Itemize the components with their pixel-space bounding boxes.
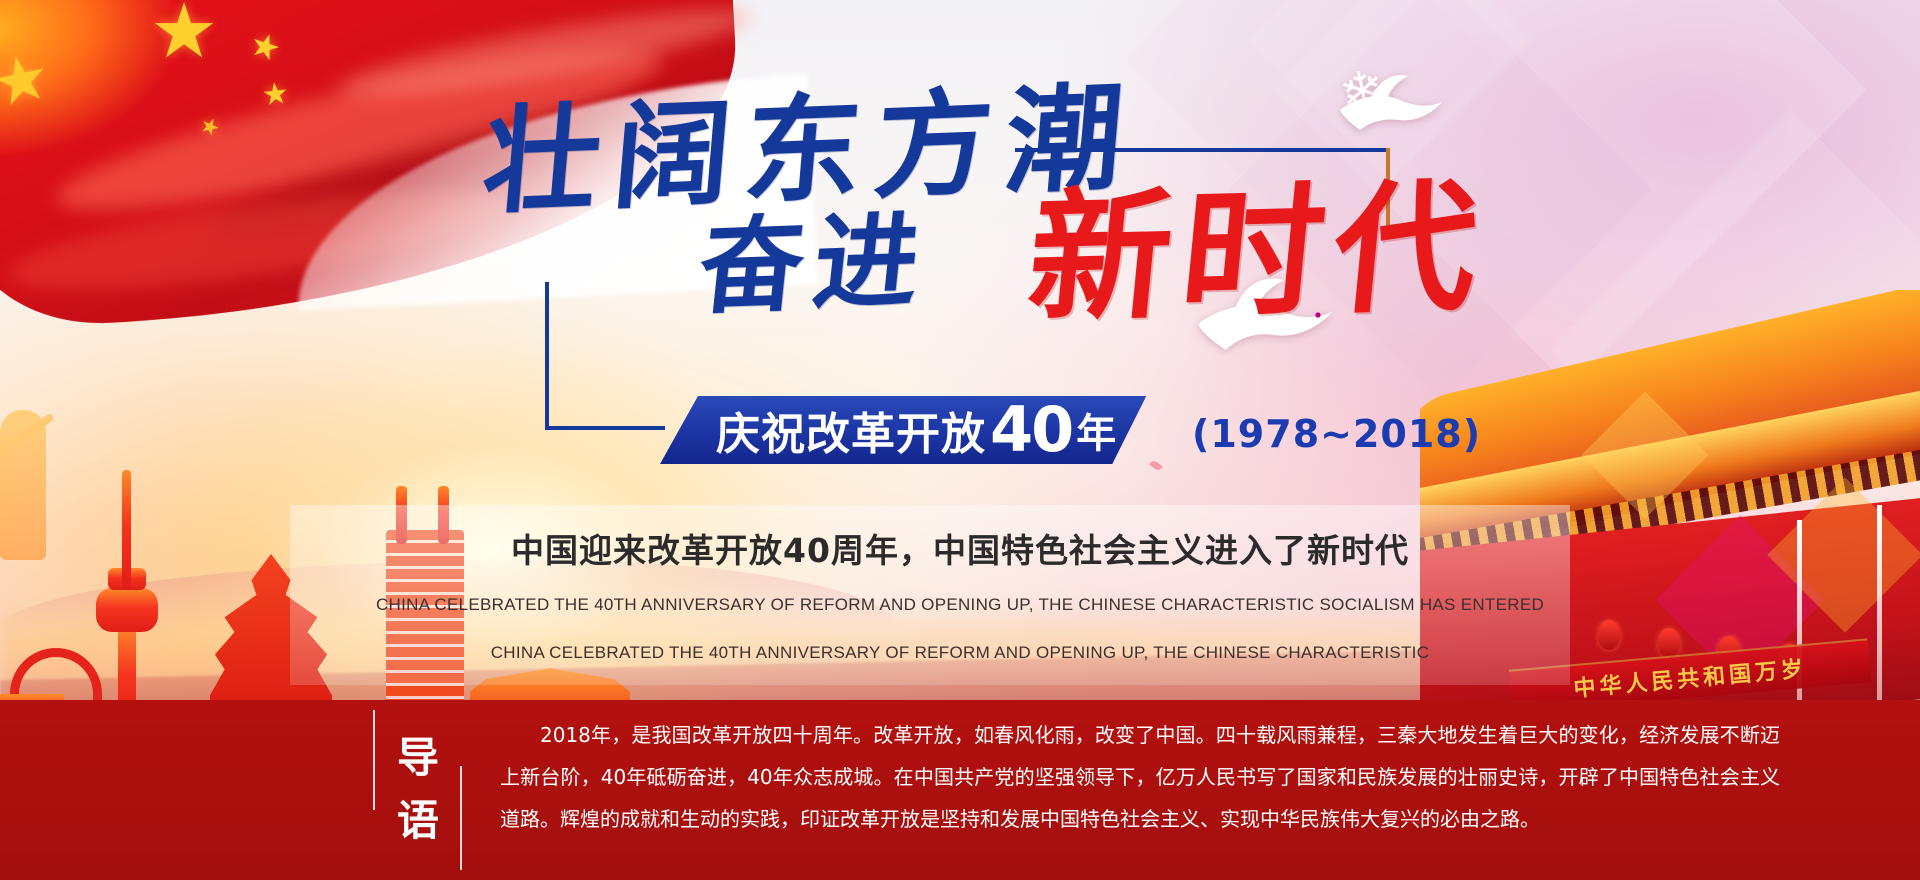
lead-section: 导 语 2018年，是我国改革开放四十周年。改革开放，如春风化雨，改变了中国。四… [0, 700, 1920, 880]
headline-highlight: 新时代 [1022, 176, 1493, 330]
bracket-line-bottom [545, 426, 665, 430]
flag-star-large-icon: ★ [150, 0, 218, 70]
headline-line-2: 奋进 [694, 208, 934, 320]
subtitle-chinese: 中国迎来改革开放40周年，中国特色社会主义进入了新时代 [0, 524, 1920, 572]
ribbon-suffix: 年 [1076, 401, 1116, 459]
anniversary-ribbon: 庆祝改革开放 40 年 [660, 396, 1146, 464]
subtitle-english-line-2: CHINA CELEBRATED THE 40TH ANNIVERSARY OF… [0, 643, 1920, 663]
lead-label-char-1: 导 [386, 726, 452, 789]
bracket-line-left [545, 282, 549, 430]
ribbon-number: 40 [990, 402, 1072, 458]
dove-icon [1330, 66, 1450, 136]
divider-line-right [460, 766, 462, 870]
flag-star-icon: ★ [261, 79, 291, 112]
poster-canvas: ★ ★ ★ ★ ★ 中华人民共和国万岁 [0, 0, 1920, 880]
lead-body-text: 2018年，是我国改革开放四十周年。改革开放，如春风化雨，改变了中国。四十载风雨… [500, 714, 1780, 840]
ribbon-prefix: 庆祝改革开放 [716, 398, 986, 462]
subtitle-english-line-1: CHINA CELEBRATED THE 40TH ANNIVERSARY OF… [0, 595, 1920, 615]
year-range: (1978~2018) [1192, 412, 1481, 456]
lead-label-char-2: 语 [386, 789, 452, 852]
lead-label: 导 语 [386, 726, 452, 852]
divider-line-left [373, 710, 375, 810]
